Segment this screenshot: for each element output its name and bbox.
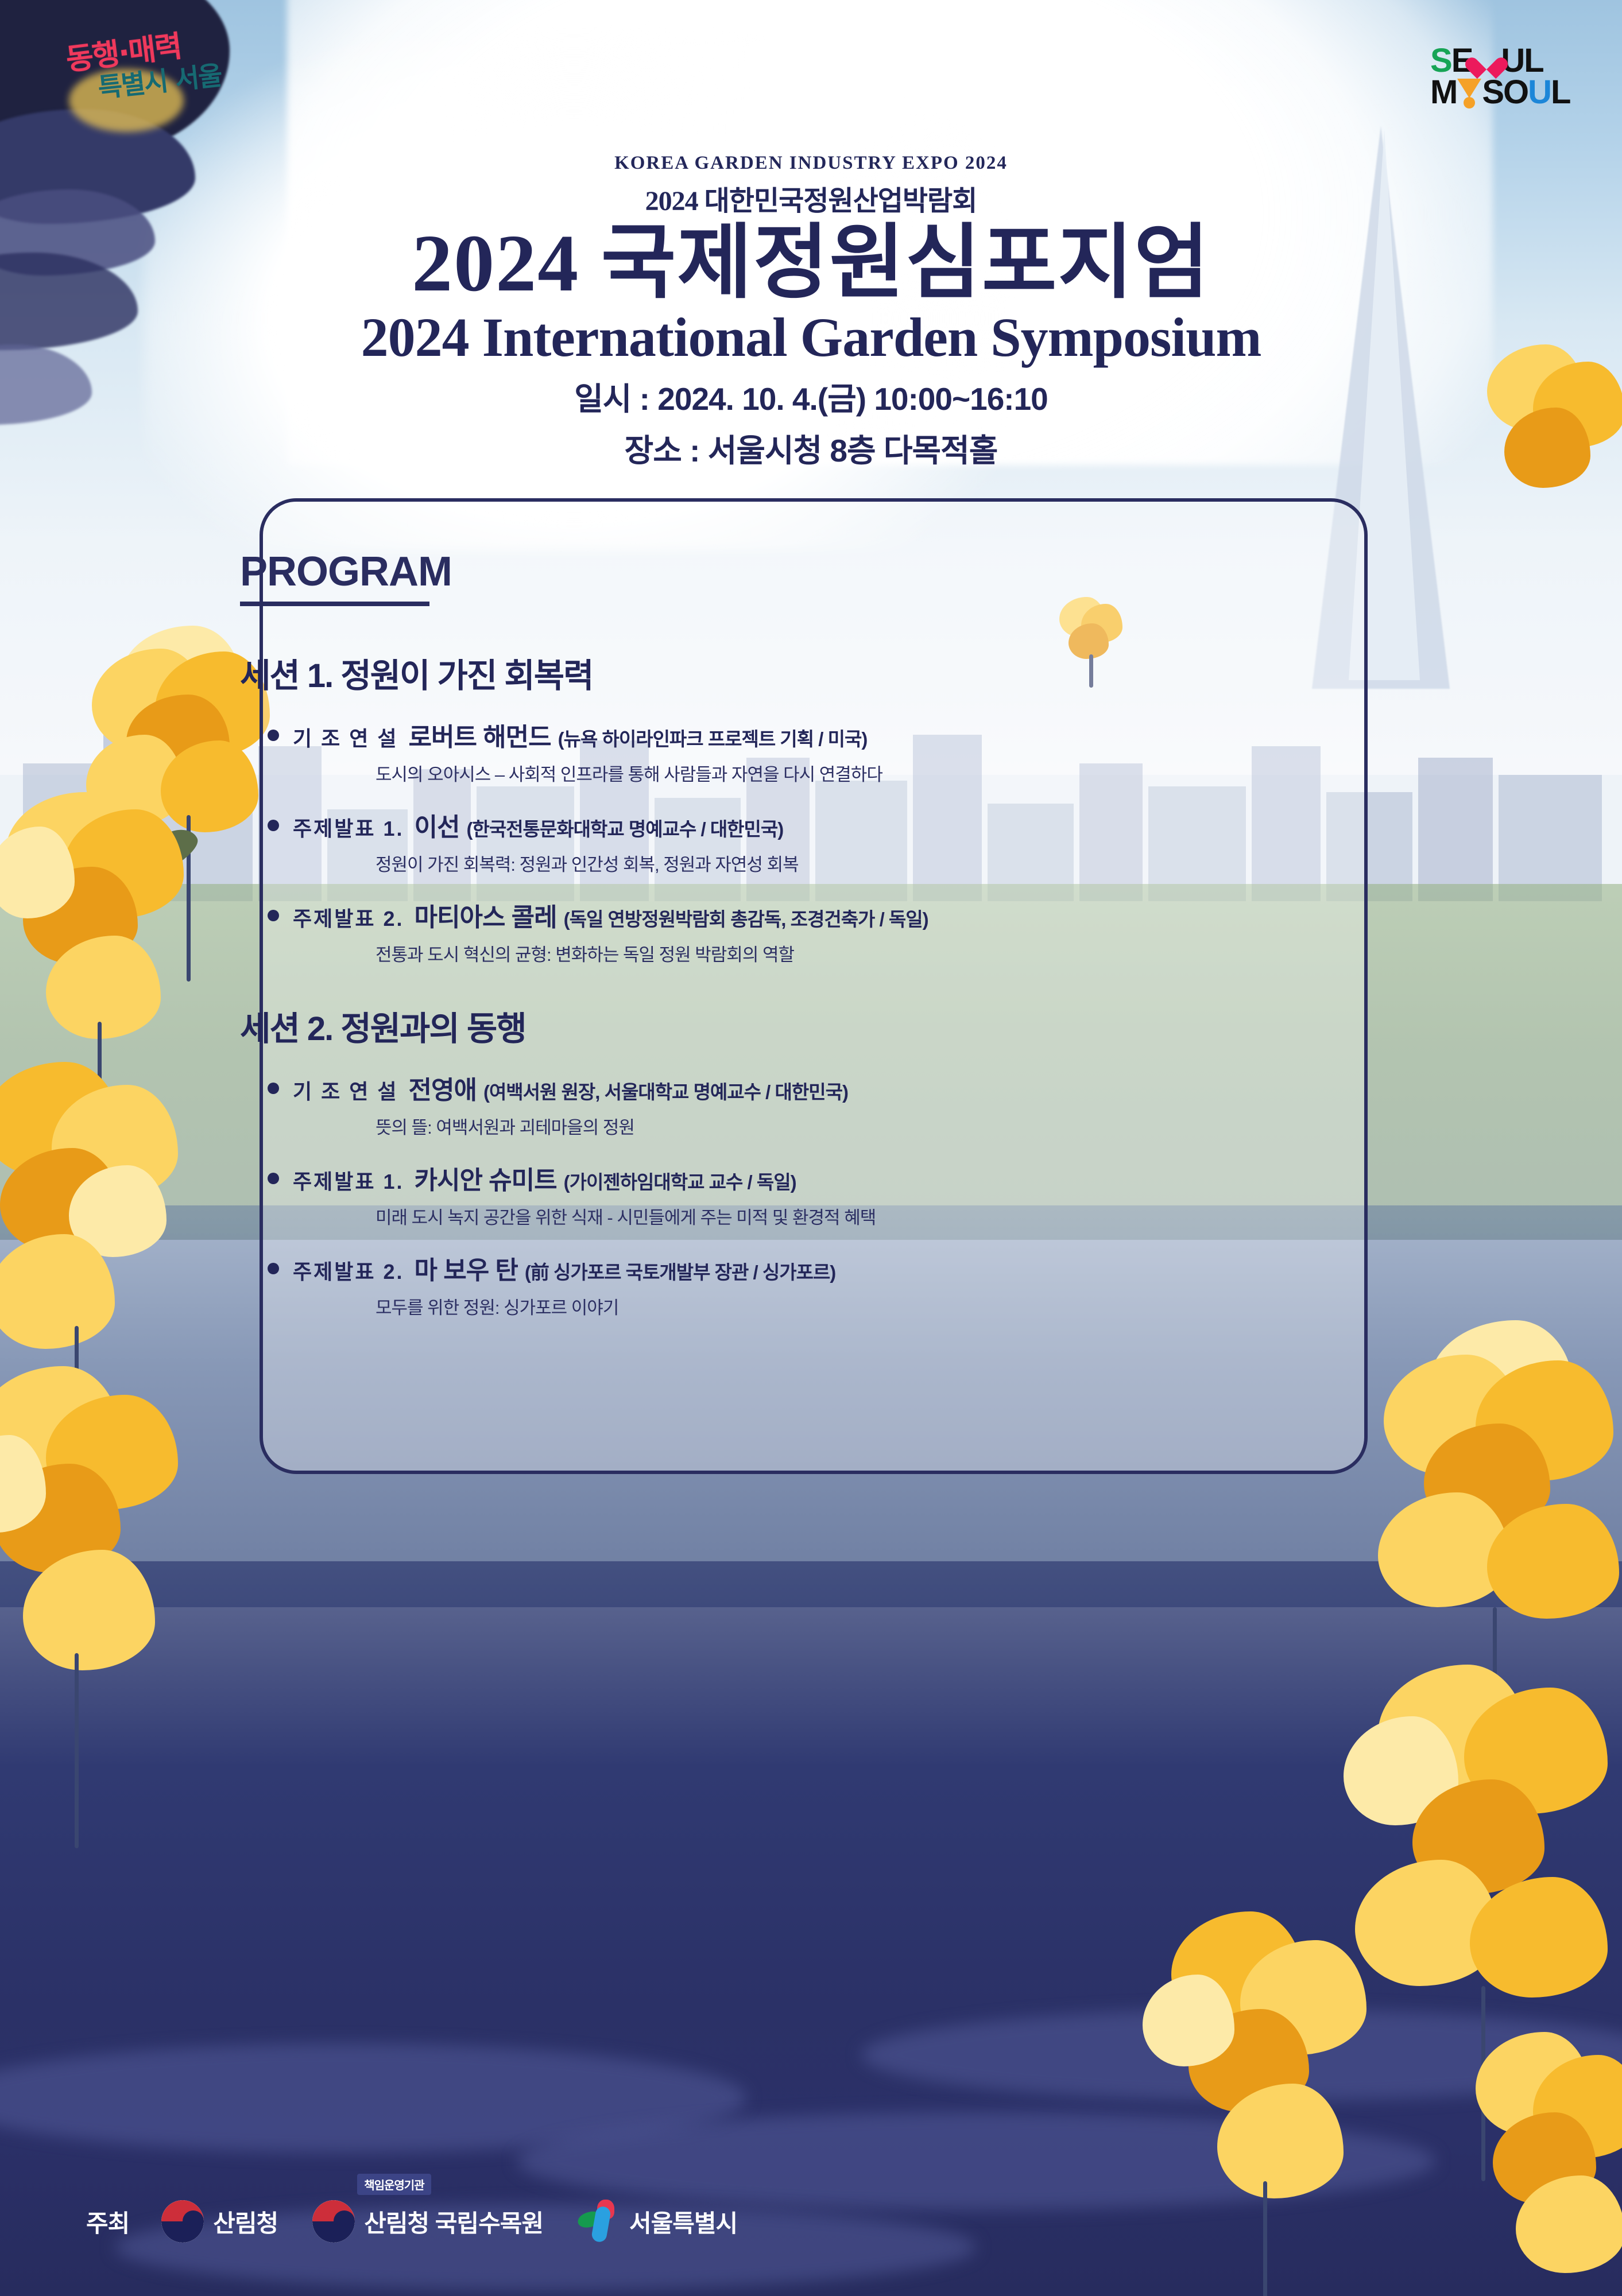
event-place-line: 장소 : 서울시청 8층 다목적홀 bbox=[0, 425, 1622, 471]
talk-affiliation: (한국전통문화대학교 명예교수 / 대한민국) bbox=[466, 814, 783, 841]
talk-subtitle: 전통과 도시 혁신의 균형: 변화하는 독일 정원 박람회의 역할 bbox=[376, 940, 1273, 966]
talk-item: 기 조 연 설 로버트 해먼드 (뉴욕 하이라인파크 프로젝트 기획 / 미국)… bbox=[268, 716, 1273, 786]
talk-header: 기 조 연 설 전영애 (여백서원 원장, 서울대학교 명예교수 / 대한민국) bbox=[268, 1069, 1273, 1106]
talk-speaker: 로버트 해먼드 bbox=[409, 716, 551, 753]
organizer-label: 주최 bbox=[86, 2204, 129, 2239]
organizer-name: 산림청 국립수목원 bbox=[364, 2204, 543, 2239]
sms-letter-u: U bbox=[1528, 76, 1551, 108]
footer-organizers: 주최 산림청 책임운영기관 산림청 국립수목원 서울특별시 bbox=[0, 2187, 1622, 2256]
talk-subtitle: 도시의 오아시스 – 사회적 인프라를 통해 사람들과 자연을 다시 연결하다 bbox=[376, 760, 1273, 786]
seoul-my-soul-logo: S E UL M SO U L bbox=[1430, 45, 1574, 114]
bullet-icon bbox=[268, 820, 279, 831]
seoul-slogan-logo: 동행·매력 특별시 서울 bbox=[62, 16, 251, 96]
program-heading-underline bbox=[240, 602, 429, 606]
talk-header: 기 조 연 설 로버트 해먼드 (뉴욕 하이라인파크 프로젝트 기획 / 미국) bbox=[268, 716, 1273, 753]
organizer-name: 산림청 bbox=[213, 2204, 278, 2239]
program-sessions: 세션 1. 정원이 가진 회복력 기 조 연 설 로버트 해먼드 (뉴욕 하이라… bbox=[240, 649, 1273, 1352]
organizer-badge: 책임운영기관 bbox=[357, 2174, 431, 2195]
talk-affiliation: (前 싱가포르 국토개발부 장관 / 싱가포르) bbox=[525, 1257, 835, 1285]
talk-subtitle: 미래 도시 녹지 공간을 위한 식재 - 시민들에게 주는 미적 및 환경적 혜… bbox=[376, 1203, 1273, 1229]
sms-letter-s: S bbox=[1430, 45, 1451, 76]
talk-subtitle: 뜻의 뜰: 여백서원과 괴테마을의 정원 bbox=[376, 1113, 1273, 1139]
poster-canvas: 동행·매력 특별시 서울 S E UL M SO U L KOREA GARDE… bbox=[0, 0, 1622, 2296]
kicker-english: KOREA GARDEN INDUSTRY EXPO 2024 bbox=[0, 153, 1622, 174]
sms-letter-l: L bbox=[1551, 76, 1570, 108]
date-label: 일시 : bbox=[574, 381, 649, 417]
bullet-icon bbox=[268, 910, 279, 921]
kicker-korean: 2024 대한민국정원산업박람회 bbox=[0, 178, 1622, 218]
sms-letters-ul: UL bbox=[1501, 45, 1543, 76]
organizer-korea-national-arboretum: 책임운영기관 산림청 국립수목원 bbox=[312, 2200, 543, 2243]
talk-role: 주제발표 1. bbox=[293, 812, 404, 842]
sms-letter-m: M bbox=[1430, 76, 1457, 108]
talk-role: 주제발표 2. bbox=[293, 902, 404, 932]
date-value: 2024. 10. 4.(금) 10:00~16:10 bbox=[657, 381, 1048, 417]
organizer-seoul-metropolitan-government: 서울특별시 bbox=[578, 2200, 737, 2243]
talk-header: 주제발표 2. 마 보우 탄 (前 싱가포르 국토개발부 장관 / 싱가포르) bbox=[268, 1250, 1273, 1286]
talk-speaker: 마 보우 탄 bbox=[415, 1250, 518, 1286]
seoul-city-emblem-icon bbox=[578, 2200, 622, 2243]
page-title-english: 2024 International Garden Symposium bbox=[0, 305, 1622, 369]
talk-affiliation: (가이젠하임대학교 교수 / 독일) bbox=[564, 1167, 796, 1194]
organizer-name: 서울특별시 bbox=[629, 2204, 737, 2239]
talk-speaker: 전영애 bbox=[409, 1069, 477, 1106]
talk-affiliation: (뉴욕 하이라인파크 프로젝트 기획 / 미국) bbox=[558, 724, 868, 751]
talk-item: 기 조 연 설 전영애 (여백서원 원장, 서울대학교 명예교수 / 대한민국)… bbox=[268, 1069, 1273, 1139]
talk-role: 기 조 연 설 bbox=[293, 1075, 398, 1105]
talk-affiliation: (여백서원 원장, 서울대학교 명예교수 / 대한민국) bbox=[483, 1077, 848, 1104]
place-label: 장소 : bbox=[625, 433, 700, 468]
talk-role: 주제발표 2. bbox=[293, 1255, 404, 1285]
talk-speaker: 이선 bbox=[415, 806, 460, 843]
talk-role: 주제발표 1. bbox=[293, 1165, 404, 1195]
exclamation-icon bbox=[1457, 77, 1481, 107]
talk-subtitle: 모두를 위한 정원: 싱가포르 이야기 bbox=[376, 1293, 1273, 1319]
bullet-icon bbox=[268, 730, 279, 741]
session-2-title: 세션 2. 정원과의 동행 bbox=[240, 1002, 1273, 1050]
place-value: 서울시청 8층 다목적홀 bbox=[708, 433, 998, 468]
heart-icon bbox=[1473, 49, 1500, 73]
talk-subtitle: 정원이 가진 회복력: 정원과 인간성 회복, 정원과 자연성 회복 bbox=[376, 850, 1273, 876]
talk-header: 주제발표 2. 마티아스 콜레 (독일 연방정원박람회 총감독, 조경건축가 /… bbox=[268, 897, 1273, 933]
session-1-title: 세션 1. 정원이 가진 회복력 bbox=[240, 649, 1273, 697]
talk-affiliation: (독일 연방정원박람회 총감독, 조경건축가 / 독일) bbox=[564, 904, 928, 932]
talk-header: 주제발표 1. 이선 (한국전통문화대학교 명예교수 / 대한민국) bbox=[268, 806, 1273, 843]
talk-speaker: 카시안 슈미트 bbox=[415, 1159, 557, 1196]
talk-header: 주제발표 1. 카시안 슈미트 (가이젠하임대학교 교수 / 독일) bbox=[268, 1159, 1273, 1196]
page-title-korean: 2024 국제정원심포지엄 bbox=[0, 218, 1622, 308]
bullet-icon bbox=[268, 1263, 279, 1274]
bullet-icon bbox=[268, 1083, 279, 1094]
korea-government-taegeuk-icon bbox=[161, 2200, 204, 2243]
program-heading: PROGRAM bbox=[240, 548, 452, 595]
session-2: 세션 2. 정원과의 동행 기 조 연 설 전영애 (여백서원 원장, 서울대학… bbox=[240, 1002, 1273, 1319]
sms-letters-so: SO bbox=[1482, 76, 1528, 108]
talk-item: 주제발표 1. 카시안 슈미트 (가이젠하임대학교 교수 / 독일) 미래 도시… bbox=[268, 1159, 1273, 1229]
talk-role: 기 조 연 설 bbox=[293, 722, 398, 752]
event-date-line: 일시 : 2024. 10. 4.(금) 10:00~16:10 bbox=[0, 373, 1622, 419]
organizer-korea-forest-service: 산림청 bbox=[161, 2200, 278, 2243]
talk-speaker: 마티아스 콜레 bbox=[415, 897, 557, 933]
bullet-icon bbox=[268, 1173, 279, 1184]
sms-line2: M SO U L bbox=[1430, 76, 1574, 108]
talk-item: 주제발표 2. 마티아스 콜레 (독일 연방정원박람회 총감독, 조경건축가 /… bbox=[268, 897, 1273, 966]
korea-government-taegeuk-icon bbox=[312, 2200, 355, 2243]
talk-item: 주제발표 2. 마 보우 탄 (前 싱가포르 국토개발부 장관 / 싱가포르) … bbox=[268, 1250, 1273, 1319]
sms-line1: S E UL bbox=[1430, 45, 1574, 76]
talk-item: 주제발표 1. 이선 (한국전통문화대학교 명예교수 / 대한민국) 정원이 가… bbox=[268, 806, 1273, 876]
session-1: 세션 1. 정원이 가진 회복력 기 조 연 설 로버트 해먼드 (뉴욕 하이라… bbox=[240, 649, 1273, 966]
